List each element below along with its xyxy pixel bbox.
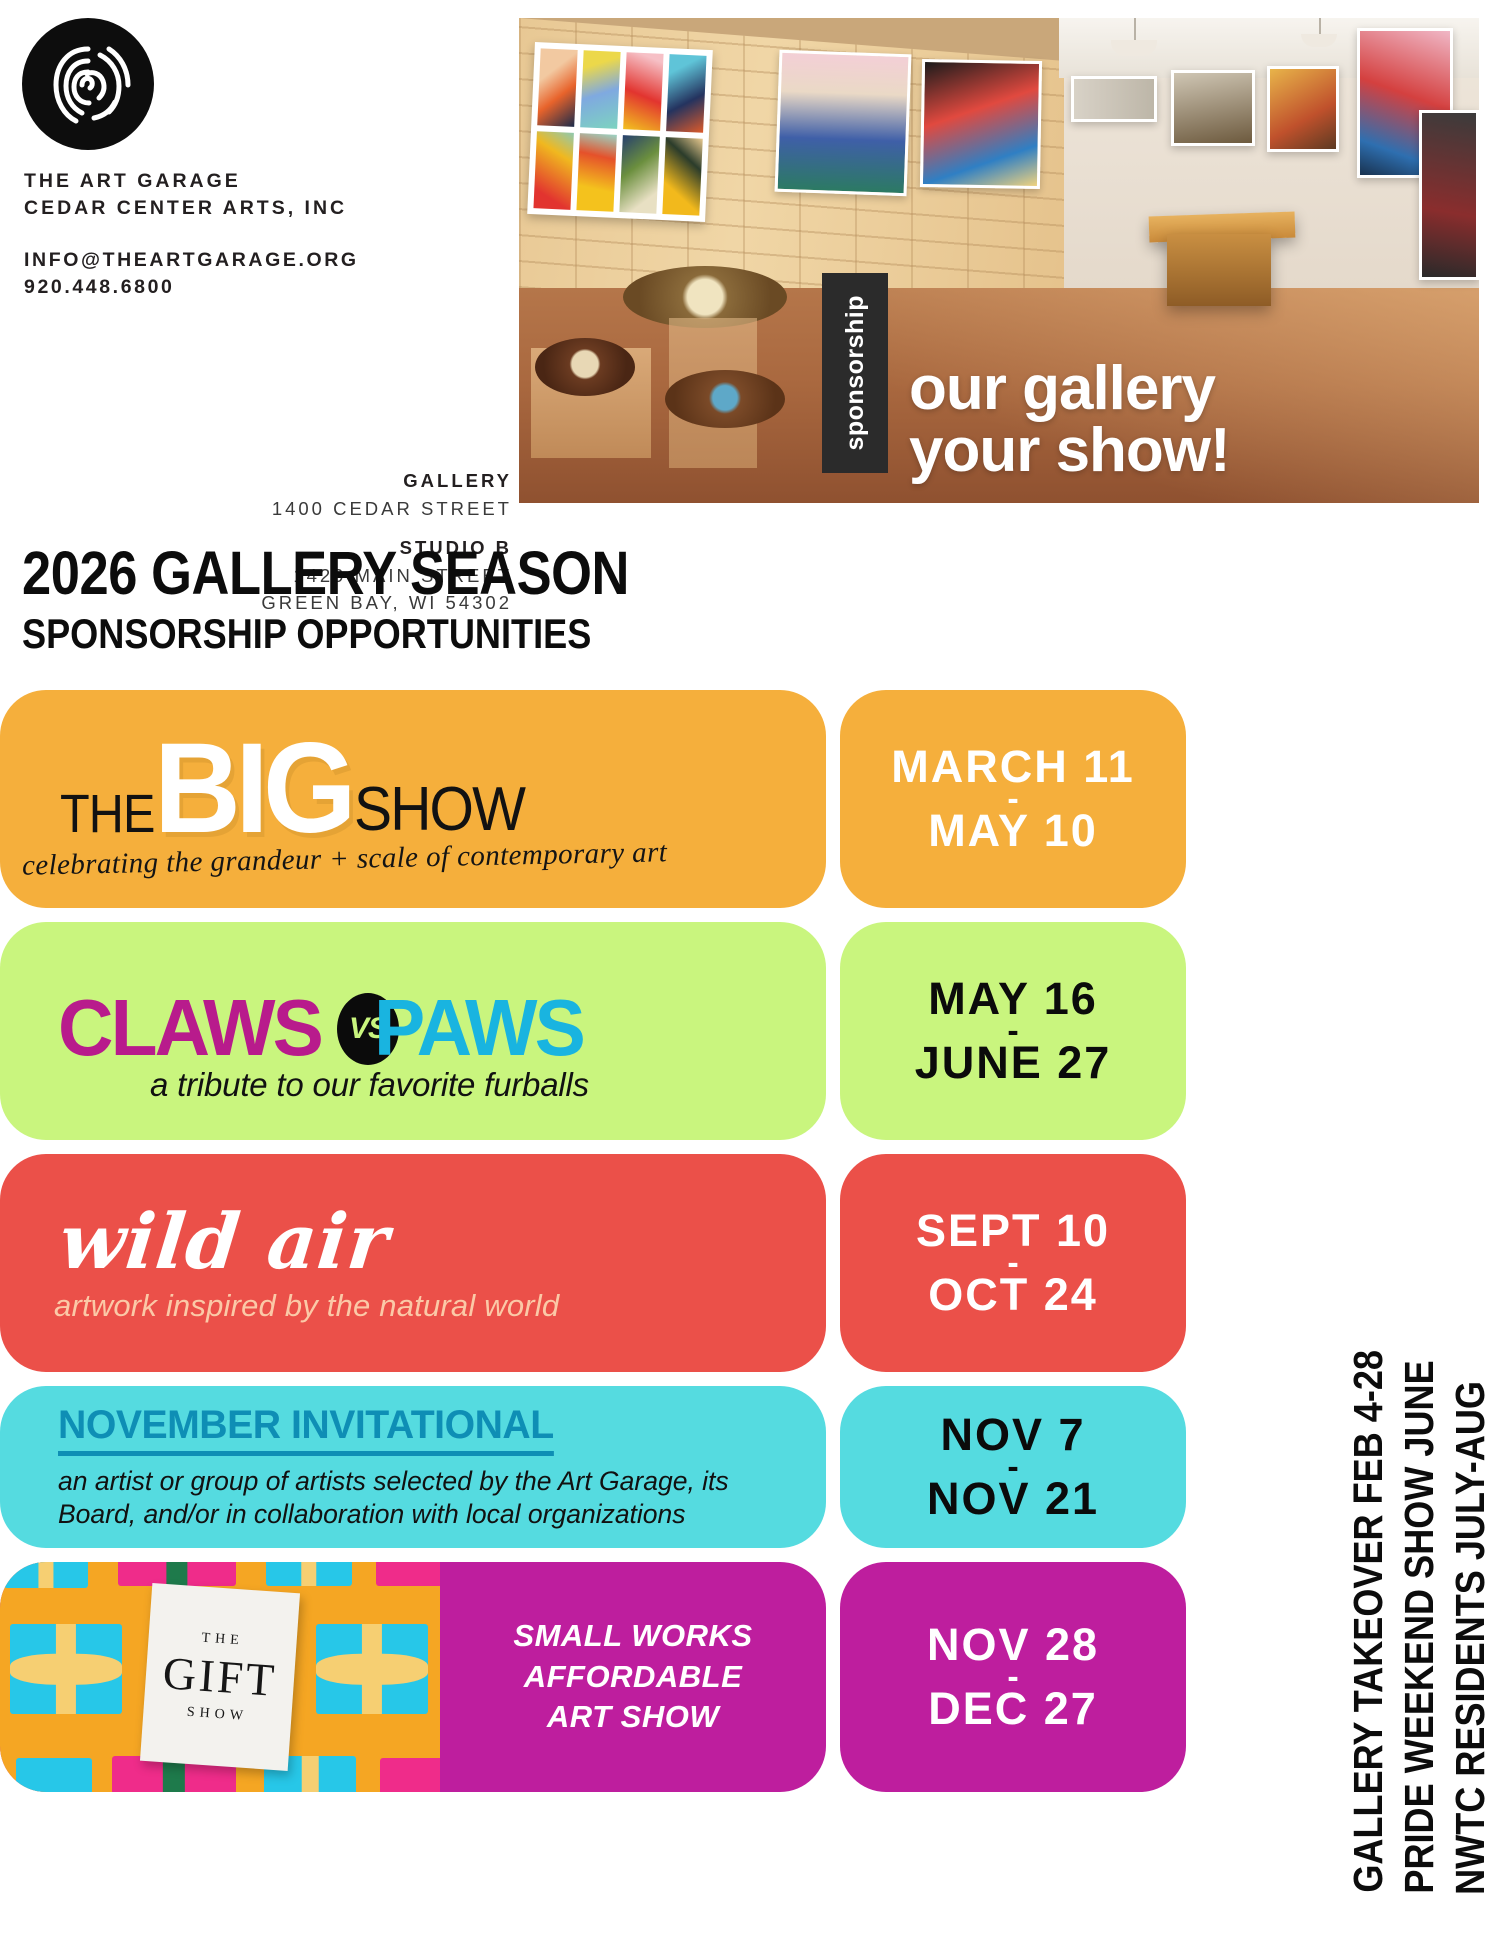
gallery-photo: sponsorship our gallery your show! [519,18,1479,503]
gallery-label: GALLERY [24,468,512,495]
sponsorship-tab-label: sponsorship [841,295,870,451]
show-card-the-gift-show[interactable]: THE GIFT SHOW SMALL WORKS AFFORDABLE ART… [0,1562,826,1792]
lamp-cord-2 [1319,18,1321,34]
side-notes: GALLERY TAKEOVER FEB 4-28 PRIDE WEEKEND … [1254,860,1494,1930]
page-title: 2026 GALLERY SEASON [22,538,629,608]
big-show-word-the: THE [60,783,155,845]
side-note-gallery-takeover-label: GALLERY TAKEOVER FEB 4-28 [1345,1350,1392,1893]
show-card-the-big-show[interactable]: THE BIG SHOW celebrating the grandeur + … [0,690,826,908]
date-end: MAY 10 [928,808,1098,854]
artwork-portrait-2 [920,59,1042,189]
gift-box-bottom-far-right [380,1758,440,1792]
show-tagline-wild-air: artwork inspired by the natural world [54,1288,826,1324]
nest-sculpture-1 [535,338,635,396]
ribbon-bow [316,1654,428,1685]
show-card-wild-air[interactable]: wild air artwork inspired by the natural… [0,1154,826,1372]
gift-caption-line3: ART SHOW [454,1697,812,1738]
show-row-the-gift-show: THE GIFT SHOW SMALL WORKS AFFORDABLE ART… [0,1562,1230,1792]
ribbon-vertical [38,1562,53,1588]
gift-card-line3: SHOW [186,1704,248,1724]
show-row-november-invitational: NOVEMBER INVITATIONAL an artist or group… [0,1386,1230,1548]
photo-headline-line1: our gallery [909,358,1469,419]
show-card-claws-vs-paws[interactable]: CLAWS VS PAWS a tribute to our favorite … [0,922,826,1140]
ribbon-bow [10,1654,122,1685]
show-dates-the-gift-show: NOV 28 - DEC 27 [840,1562,1186,1792]
gift-show-photo: THE GIFT SHOW [0,1562,440,1792]
photo-headline: our gallery your show! [909,358,1469,481]
date-end: OCT 24 [928,1272,1098,1318]
paws-word: PAWS [374,988,583,1068]
gift-card-line1: THE [201,1630,244,1649]
big-show-word-show: SHOW [354,774,524,845]
date-end: DEC 27 [928,1686,1098,1732]
side-note-pride-weekend: PRIDE WEEKEND SHOW JUNE [1396,1324,1443,1930]
artwork-small-strip [1071,76,1157,122]
big-show-word-big: BIG [154,725,351,853]
show-dates-the-big-show: MARCH 11 - MAY 10 [840,690,1186,908]
show-card-november-invitational[interactable]: NOVEMBER INVITATIONAL an artist or group… [0,1386,826,1548]
side-note-pride-weekend-label: PRIDE WEEKEND SHOW JUNE [1396,1360,1443,1893]
org-name-line2: CEDAR CENTER ARTS, INC [24,195,504,222]
page-subtitle: SPONSORSHIP OPPORTUNITIES [22,610,591,658]
side-note-nwtc-residents-label: NWTC RESIDENTS JULY-AUG [1447,1381,1494,1895]
sponsorship-tab: sponsorship [822,273,888,473]
show-dates-claws-vs-paws: MAY 16 - JUNE 27 [840,922,1186,1140]
show-title-november-invitational: NOVEMBER INVITATIONAL [58,1403,554,1456]
show-row-the-big-show: THE BIG SHOW celebrating the grandeur + … [0,690,1230,908]
gift-box-top-right [266,1562,352,1586]
artwork-sculpture-panel [1171,70,1255,146]
contact-phone[interactable]: 920.448.6800 [24,274,504,302]
gift-card-line2: GIFT [161,1646,279,1707]
season-show-list: THE BIG SHOW celebrating the grandeur + … [0,690,1230,1806]
show-dates-wild-air: SEPT 10 - OCT 24 [840,1154,1186,1372]
claws-word: CLAWS [58,988,321,1068]
show-row-wild-air: wild air artwork inspired by the natural… [0,1154,1230,1372]
show-tagline-november-invitational: an artist or group of artists selected b… [58,1465,738,1531]
gallery-address: 1400 CEDAR STREET [24,495,512,522]
ribbon-vertical [302,1756,319,1792]
header: THE ART GARAGE CEDAR CENTER ARTS, INC IN… [0,0,1500,520]
show-tagline-claws-vs-paws: a tribute to our favorite furballs [150,1066,589,1104]
date-end: JUNE 27 [915,1040,1112,1086]
gift-show-caption: SMALL WORKS AFFORDABLE ART SHOW [440,1616,826,1739]
gift-box-right [316,1624,428,1714]
show-dates-november-invitational: NOV 7 - NOV 21 [840,1386,1186,1548]
artwork-window-panels [527,42,713,222]
logo [22,18,154,150]
gift-box-bottom-left [16,1758,92,1792]
gift-box-left [10,1624,122,1714]
org-name-line1: THE ART GARAGE [24,168,504,195]
pendant-lamp-1 [1111,40,1157,56]
show-row-claws-vs-paws: CLAWS VS PAWS a tribute to our favorite … [0,922,1230,1140]
gift-caption-line2: AFFORDABLE [454,1657,812,1698]
artwork-portrait-1 [775,50,912,197]
gift-caption-line1: SMALL WORKS [454,1616,812,1657]
fingerprint-logo-icon [22,18,154,150]
lamp-cord-1 [1134,18,1136,40]
contact-block: THE ART GARAGE CEDAR CENTER ARTS, INC IN… [24,168,504,302]
contact-email[interactable]: INFO@THEARTGARAGE.ORG [24,247,504,275]
date-end: NOV 21 [927,1476,1099,1522]
ribbon-vertical [301,1562,316,1586]
side-note-gallery-takeover: GALLERY TAKEOVER FEB 4-28 [1345,1313,1392,1930]
ribbon-vertical [166,1562,187,1586]
artwork-abstract-right-1 [1267,66,1339,152]
gift-show-card: THE GIFT SHOW [140,1583,300,1771]
show-title-wild-air: wild air [56,1202,826,1282]
gift-box-top-left [4,1562,88,1588]
bench-leg [1167,234,1271,306]
side-note-nwtc-residents: NWTC RESIDENTS JULY-AUG [1447,1346,1494,1930]
photo-headline-line2: your show! [909,420,1469,481]
gift-box-top-far-right [376,1562,440,1586]
artwork-abstract-far-right [1419,110,1479,280]
nest-sculpture-3 [665,370,785,428]
gift-box-top-mid [118,1562,236,1586]
